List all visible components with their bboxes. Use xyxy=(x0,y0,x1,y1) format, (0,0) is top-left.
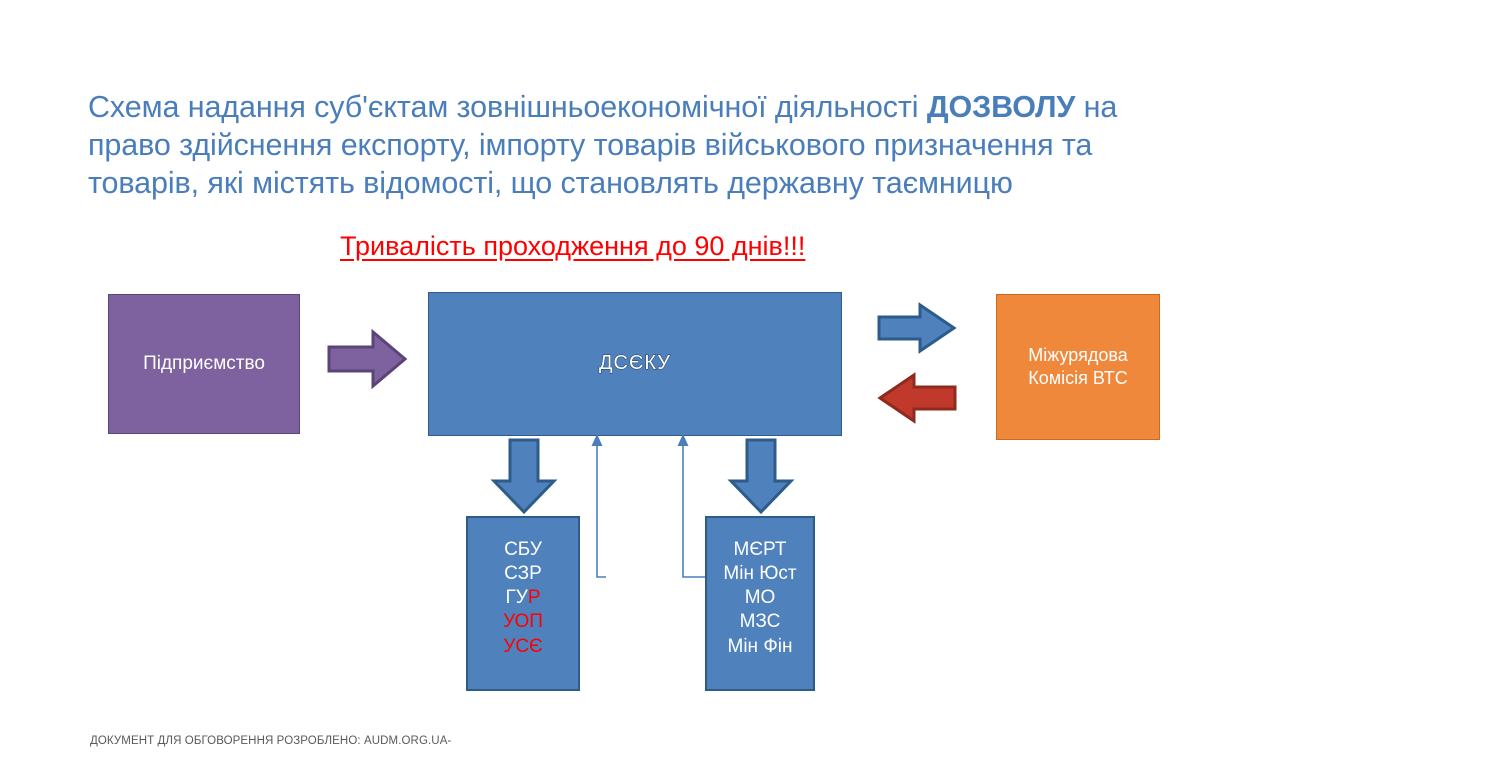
node-agencies-right-line-4: МЗС xyxy=(740,610,781,634)
node-agencies-left-line-4: УОП xyxy=(503,610,543,634)
arrow-down-icon-dsecu-to-agencies-left xyxy=(489,437,559,520)
node-agencies-right-line-5: Мін Фін xyxy=(728,635,793,659)
arrow-right-icon-enterprise-to-dsecu xyxy=(325,327,409,396)
node-dsecu[interactable]: ДСЄКУ xyxy=(428,292,842,436)
node-agencies-right[interactable]: МЄРТМін ЮстМОМЗСМін Фін xyxy=(705,516,815,691)
node-agencies-left-line-3-tail: Р xyxy=(528,587,541,608)
duration-note: Тривалість проходження до 90 днів!!! xyxy=(340,230,805,262)
node-agencies-left-line-2: СЗР xyxy=(504,562,542,586)
node-commission[interactable]: Міжурядова Комісія ВТС xyxy=(996,294,1160,440)
node-agencies-right-line-3: МО xyxy=(745,586,776,610)
node-agencies-right-line-2: Мін Юст xyxy=(723,562,796,586)
footer-note: ДОКУМЕНТ ДЛЯ ОБГОВОРЕННЯ РОЗРОБЛЕНО: AUD… xyxy=(90,735,451,747)
node-commission-line-1: Міжурядова xyxy=(1028,344,1127,367)
node-agencies-left[interactable]: СБУСЗРГУРУОПУСЄ xyxy=(466,516,580,691)
node-enterprise-label: Підприємство xyxy=(143,352,265,376)
node-agencies-right-line-1: МЄРТ xyxy=(734,538,787,562)
arrow-left-icon-commission-to-dsecu xyxy=(876,372,958,429)
page-title: Схема надання суб'єктам зовнішньоекономі… xyxy=(88,88,1193,202)
node-agencies-left-line-1: СБУ xyxy=(504,538,542,562)
node-dsecu-label: ДСЄКУ xyxy=(599,351,671,376)
arrow-right-icon-dsecu-to-commission xyxy=(876,302,958,359)
node-agencies-left-line-5: УСЄ xyxy=(503,635,542,659)
node-commission-line-2: Комісія ВТС xyxy=(1028,367,1127,390)
arrow-down-icon-dsecu-to-agencies-right xyxy=(726,437,796,520)
node-enterprise[interactable]: Підприємство xyxy=(108,294,300,434)
node-agencies-left-line-3: ГУР xyxy=(505,586,540,610)
page-title-part1: Схема надання суб'єктам зовнішньоекономі… xyxy=(88,90,927,124)
connector-agencies-left-to-dsecu xyxy=(578,432,608,585)
page-title-emphasis: ДОЗВОЛУ xyxy=(927,90,1075,124)
